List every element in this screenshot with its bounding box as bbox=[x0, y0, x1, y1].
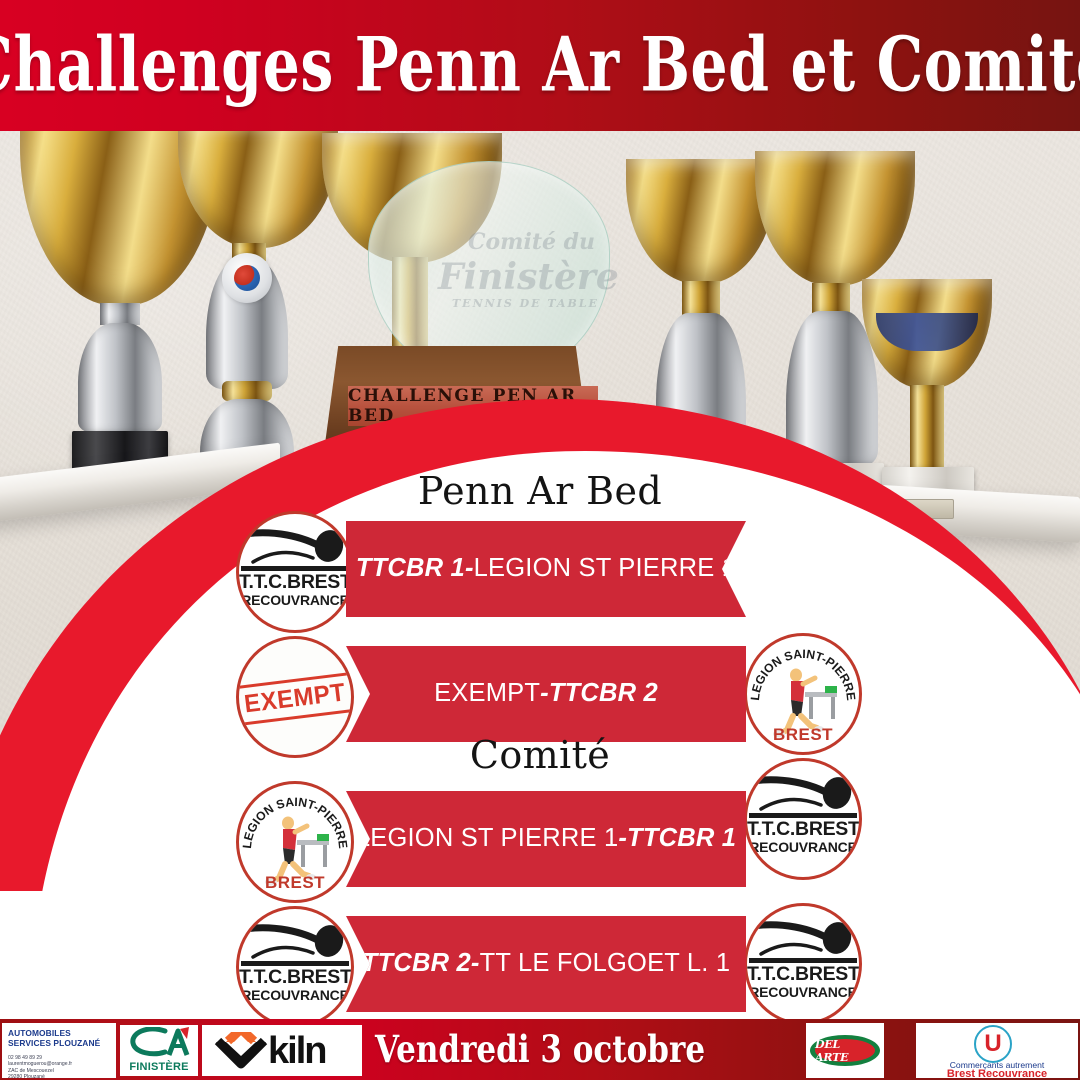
sponsor-del-arte[interactable]: DEL ARTE bbox=[806, 1023, 884, 1078]
match-label: LEGION ST PIERRE 1-TTCBR 1 bbox=[350, 826, 742, 852]
super-u-letter: U bbox=[984, 1032, 1001, 1056]
sponsor-automobiles-details: 02 98 49 89 29 laurentmoguerou@orange.fr… bbox=[8, 1055, 114, 1078]
sponsor-kiln[interactable]: kiln bbox=[202, 1025, 362, 1076]
ttcbr-logo-line2: RECOUVRANCE bbox=[239, 592, 351, 608]
sponsor-kiln-name: kiln bbox=[268, 1027, 325, 1075]
poster: Comité du Finistère TENNIS DE TABLE CHAL… bbox=[0, 0, 1080, 1080]
exempt-stamp-box: EXEMPT bbox=[236, 672, 354, 726]
header-bar: Challenges Penn Ar Bed et Comité bbox=[0, 0, 1080, 131]
ttcbr-logo-line1: T.T.C.BREST bbox=[239, 966, 351, 989]
sponsor-del-arte-name: DEL ARTE bbox=[815, 1039, 875, 1062]
match-label: TTCBR 1-LEGION ST PIERRE 1 bbox=[350, 556, 742, 582]
match-banner[interactable]: TTCBR 2-TT LE FOLGOET L. 1 bbox=[346, 916, 746, 1012]
match-away-team: LEGION ST PIERRE 1 bbox=[474, 554, 736, 582]
legion-saint-pierre-logo: LEGION SAINT-PIERRE bbox=[236, 781, 354, 903]
del-arte-oval: DEL ARTE bbox=[810, 1035, 880, 1066]
footer-bar: Vendredi 3 octobre AUTOMOBILES SERVICES … bbox=[0, 1019, 1080, 1080]
kiln-chevron-icon bbox=[212, 1032, 270, 1070]
sponsor-super-u[interactable]: U Commerçants autrement Brest Recouvranc… bbox=[916, 1023, 1078, 1078]
ttcbr-logo: T.T.C.BREST RECOUVRANCE bbox=[236, 511, 354, 633]
match-home-team: LEGION ST PIERRE 1 bbox=[356, 824, 618, 852]
match-banner[interactable]: EXEMPT-TTCBR 2 bbox=[346, 646, 746, 742]
match-home-team: EXEMPT bbox=[434, 679, 540, 707]
match-home-team: TTCBR 2 bbox=[362, 949, 471, 977]
match-row[interactable]: T.T.C.BREST RECOUVRANCE TTCBR 1-LEGION S… bbox=[236, 511, 856, 627]
match-away-team: TTCBR 2 bbox=[549, 679, 658, 707]
exempt-stamp-label: EXEMPT bbox=[243, 678, 348, 720]
match-label: EXEMPT-TTCBR 2 bbox=[428, 681, 664, 707]
credit-agricole-icon bbox=[125, 1027, 193, 1057]
match-away-team: TTCBR 1 bbox=[627, 824, 736, 852]
section-title-comite: Comité bbox=[0, 733, 1080, 777]
section-title-penn-ar-bed: Penn Ar Bed bbox=[0, 469, 1080, 513]
sponsor-credit-agricole-name: FINISTÈRE bbox=[120, 1061, 198, 1073]
match-separator: - bbox=[465, 554, 474, 582]
match-home-team: TTCBR 1 bbox=[356, 554, 465, 582]
match-row[interactable]: LEGION SAINT-PIERRE bbox=[236, 781, 856, 897]
paddle-icon bbox=[243, 528, 347, 568]
match-away-team: TT LE FOLGOET L. 1 bbox=[480, 949, 731, 977]
matches-content: Penn Ar Bed T.T.C.BREST RECOUVRANCE TTCB… bbox=[0, 131, 1080, 1019]
match-separator: - bbox=[471, 949, 480, 977]
super-u-ring-icon: U bbox=[974, 1025, 1012, 1063]
super-u-store-name: Brest Recouvrance bbox=[916, 1068, 1078, 1078]
legion-logo-city: BREST bbox=[239, 873, 351, 893]
match-separator: - bbox=[618, 824, 627, 852]
paddle-icon bbox=[243, 923, 347, 963]
match-separator: - bbox=[540, 679, 549, 707]
match-label: TTCBR 2-TT LE FOLGOET L. 1 bbox=[356, 951, 736, 977]
match-banner[interactable]: LEGION ST PIERRE 1-TTCBR 1 bbox=[346, 791, 746, 887]
ttcbr-logo-line1: T.T.C.BREST bbox=[239, 571, 351, 594]
ttcbr-logo: T.T.C.BREST RECOUVRANCE bbox=[236, 906, 354, 1028]
page-title: Challenges Penn Ar Bed et Comité bbox=[22, 0, 1059, 145]
sponsor-credit-agricole[interactable]: FINISTÈRE bbox=[120, 1025, 198, 1076]
match-banner[interactable]: TTCBR 1-LEGION ST PIERRE 1 bbox=[346, 521, 746, 617]
ttcbr-logo-line2: RECOUVRANCE bbox=[239, 987, 351, 1003]
match-row[interactable]: T.T.C.BREST RECOUVRANCE TTCBR 2-TT LE FO… bbox=[236, 906, 856, 1022]
sponsor-automobiles-services-plouzane[interactable]: AUTOMOBILES SERVICES PLOUZANÉ 02 98 49 8… bbox=[2, 1023, 116, 1078]
sponsor-automobiles-name: AUTOMOBILES SERVICES PLOUZANÉ bbox=[8, 1028, 114, 1048]
